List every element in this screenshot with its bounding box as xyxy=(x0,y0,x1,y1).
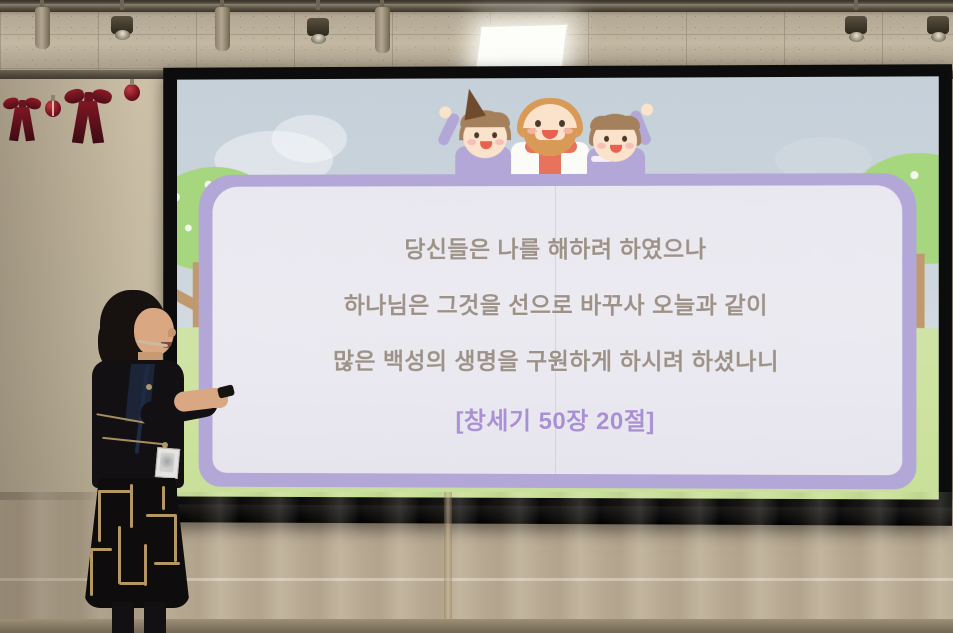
jacket-button xyxy=(146,384,152,390)
leg xyxy=(144,602,166,633)
lighting-track xyxy=(0,4,953,12)
cloud-shape xyxy=(272,115,347,163)
screen-surface: 당신들은 나를 해하려 하였으나 하나님은 그것을 선으로 바꾸사 오늘과 같이… xyxy=(177,76,939,499)
slide-canvas: 당신들은 나를 해하려 하였으나 하나님은 그것을 선으로 바꾸사 오늘과 같이… xyxy=(177,76,939,499)
curtain-center-seam xyxy=(444,492,452,633)
presenter xyxy=(78,290,228,633)
name-badge xyxy=(155,447,181,479)
ceiling xyxy=(0,0,953,72)
panel-light xyxy=(475,24,568,72)
slide-verse-line-2: 하나님은 그것을 선으로 바꾸사 오늘과 같이 xyxy=(177,286,939,320)
nose xyxy=(168,328,176,337)
slide-verse-line-1: 당신들은 나를 해하려 하였으나 xyxy=(177,230,939,265)
ornament-ball-icon xyxy=(45,100,61,117)
leg xyxy=(112,602,134,633)
slide-verse-line-3: 많은 백성의 생명을 구원하게 하시려 하셨나니 xyxy=(177,342,939,377)
ornament-ball-icon xyxy=(124,84,140,101)
skirt xyxy=(84,478,190,608)
projection-screen: 당신들은 나를 해하려 하였으나 하나님은 그것을 선으로 바꾸사 오늘과 같이… xyxy=(163,64,952,526)
slide-verse-citation: [창세기 50장 20절] xyxy=(177,400,939,437)
book-page-panel xyxy=(199,173,917,489)
photo-scene: 당신들은 나를 해하려 하였으나 하나님은 그것을 선으로 바꾸사 오늘과 같이… xyxy=(0,0,953,633)
